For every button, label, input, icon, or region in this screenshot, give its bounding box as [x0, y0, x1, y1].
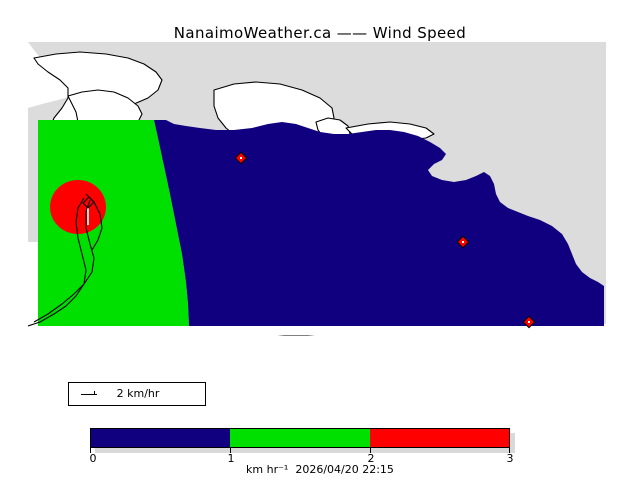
- colorbar-caption: km hr⁻¹ 2026/04/20 22:15: [0, 463, 640, 476]
- page-title: NanaimoWeather.ca —— Wind Speed: [0, 24, 640, 42]
- map-canvas[interactable]: [28, 42, 606, 336]
- wind-scale-legend: 2 km/hr: [68, 382, 206, 406]
- colorbar-segment-low: [91, 429, 230, 447]
- colorbar-segment-mid: [230, 429, 369, 447]
- colorbar[interactable]: [90, 428, 510, 448]
- map-graphic: [28, 42, 606, 336]
- colorbar-segment-high: [370, 429, 509, 447]
- wind-scale-label: 2 km/hr: [69, 387, 207, 400]
- weather-map-page: NanaimoWeather.ca —— Wind Speed: [0, 0, 640, 480]
